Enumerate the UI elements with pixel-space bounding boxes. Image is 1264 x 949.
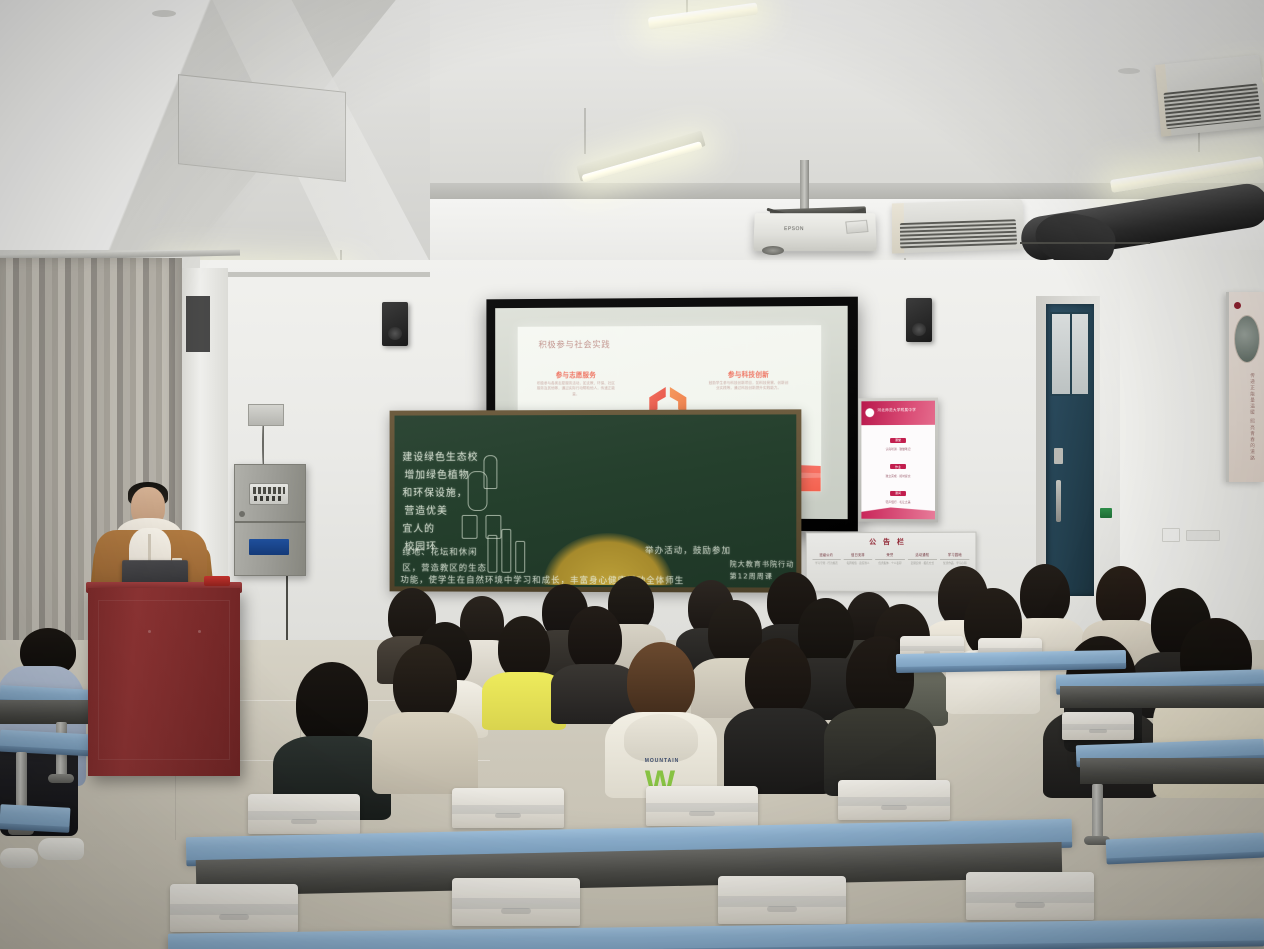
notice-column-text: 优秀集体 · 个人表彰: [876, 562, 905, 566]
poster-title: 河北师范大学附属中学: [877, 408, 916, 413]
student-head: [627, 642, 695, 722]
smoke-detector-icon: [1118, 68, 1140, 74]
seat-emblem: [501, 908, 532, 915]
podium-detail-dot: [198, 630, 201, 633]
seat-back: [170, 884, 298, 932]
smoke-detector-icon: [152, 10, 176, 17]
seat-emblem: [291, 819, 318, 825]
poster-row-text: 轻声慢行 · 礼让之美: [875, 500, 921, 504]
light-switch[interactable]: [1162, 528, 1180, 542]
seat-emblem: [495, 813, 522, 819]
notice-column-header: 班级公约: [812, 552, 840, 557]
poster-row: 课堂 认真听讲 · 勤做笔记: [875, 428, 921, 451]
seat-emblem: [689, 811, 716, 817]
speaker-cone-icon: [388, 327, 403, 340]
student-head: [393, 644, 457, 722]
power-junction-box: [248, 404, 284, 426]
air-conditioner-unit: [1155, 55, 1264, 137]
poster-row: 作业 独立完成 · 按时提交: [875, 455, 921, 478]
lecture-desk: [0, 804, 70, 828]
lecture-desk: [0, 730, 92, 752]
lecture-desk: [896, 650, 1126, 668]
podium-side-item: [204, 576, 230, 586]
chalk-drawing-building: [515, 541, 525, 573]
school-logo-icon: [865, 408, 874, 417]
slide-block-innovation: 参与科技创新 鼓励学生参与科技创新项目，如科技竞赛、创新创业实践等，通过科技创新…: [707, 368, 790, 391]
desk-leg: [1092, 784, 1103, 838]
ac-grill: [900, 219, 1017, 248]
meter-display: [253, 487, 285, 494]
student: [286, 662, 378, 812]
door-glass-panel: [1050, 312, 1090, 396]
notice-column: 活动通知 近期安排 · 报名方式: [908, 552, 937, 567]
slide-block-body: 鼓励学生参与科技创新项目，如科技竞赛、创新创业实践等，通过科技创新提升实践能力。: [707, 381, 790, 392]
ceiling-drop-section: [430, 0, 1264, 200]
projector-brand-label: EPSON: [784, 226, 804, 232]
seat-back: [966, 872, 1094, 920]
notice-divider: [844, 559, 873, 560]
notice-board-title: 公告栏: [807, 537, 976, 548]
student-torso: [724, 708, 832, 794]
notice-column-header: 学习园地: [940, 552, 970, 557]
student-hood: [624, 714, 698, 762]
seat-emblem: [767, 906, 798, 913]
notice-column-header: 值日安排: [844, 552, 873, 557]
desk-support: [1060, 686, 1264, 708]
notice-column: 班级公约 学习守则 · 行为规范: [812, 552, 840, 566]
poster-header: 河北师范大学附属中学: [861, 401, 935, 425]
poster-row: 课间 轻声慢行 · 礼让之美: [875, 481, 921, 504]
blackboard-note: 院大教育书院行动: [730, 559, 795, 569]
chalk-drawing-bin: [462, 515, 478, 539]
wall-outlet-plate: [1186, 530, 1220, 541]
slide-block-volunteer: 参与志愿服务 积极参与各类志愿服务活动，如支教、环保、社区服务及其他等，通过实际…: [535, 369, 616, 398]
ceiling-panel: [178, 74, 346, 182]
seat-back: [646, 786, 758, 826]
door-glass-mullion: [1070, 314, 1072, 394]
side-poster-text: 传递正能量温暖 照亮青春的道路: [1239, 373, 1255, 465]
notice-column: 值日安排 每周轮值 · 责任到人: [844, 552, 873, 566]
cabinet-warning-label: [249, 539, 289, 555]
chalk-drawing-figure: [468, 471, 488, 511]
pillar-recess: [186, 296, 210, 352]
school-logo-icon: [1234, 302, 1241, 309]
cabinet-latch-icon[interactable]: [239, 511, 245, 517]
seat-back: [838, 780, 950, 820]
door-lock-icon[interactable]: [1054, 448, 1063, 464]
wall-cable: [262, 420, 265, 468]
poster-footer-wave: [861, 503, 935, 519]
poster-row-text: 认真听讲 · 勤做笔记: [875, 447, 921, 451]
student: [384, 644, 466, 786]
chalk-drawing-building: [501, 529, 511, 573]
seat-emblem: [1015, 902, 1046, 909]
notice-divider: [908, 559, 937, 560]
notice-column-text: 学习守则 · 行为规范: [812, 562, 840, 566]
notice-divider: [940, 559, 970, 560]
blackboard-surface: 建设绿色生态校 增加绿色植物 和环保设施， 营造优美 宜人的 校园环 境，对合理…: [395, 414, 797, 587]
blackboard: 建设绿色生态校 增加绿色植物 和环保设施， 营造优美 宜人的 校园环 境，对合理…: [390, 409, 802, 592]
notice-column: 荣誉 优秀集体 · 个人表彰: [876, 552, 905, 567]
blackboard-line: 营造优美: [404, 505, 447, 519]
slide-block-body: 积极参与各类志愿服务活动，如支教、环保、社区服务及其他等，通过实际行动帮助他人，…: [535, 381, 616, 398]
slide-block-heading: 参与科技创新: [707, 368, 790, 378]
side-wall-poster: 传递正能量温暖 照亮青春的道路: [1226, 292, 1264, 482]
blackboard-line: 区，营造教区的生态: [402, 563, 487, 575]
wall-poster-frame: 河北师范大学附属中学 课堂 认真听讲 · 勤做笔记 作业 独立完成 · 按时提交…: [858, 398, 938, 523]
electrical-meter: [249, 483, 289, 505]
seat-back: [452, 878, 580, 926]
notice-column: 学习园地 优秀作品 · 学习心得: [940, 552, 970, 567]
blackboard-note: 举办活动，鼓励参加: [645, 545, 731, 558]
seat-emblem: [881, 805, 908, 811]
podium-panel: [98, 600, 230, 760]
student: [736, 638, 820, 784]
door-handle[interactable]: [1056, 480, 1061, 522]
meter-buttons[interactable]: [254, 496, 284, 501]
classroom-door[interactable]: [1046, 304, 1094, 596]
notice-divider: [812, 559, 840, 560]
blackboard-line: 绿地、花坛和休闲: [402, 547, 477, 559]
blackboard-line: 增加绿色植物: [404, 469, 469, 483]
wall-poster: 河北师范大学附属中学 课堂 认真听讲 · 勤做笔记 作业 独立完成 · 按时提交…: [861, 401, 935, 520]
classroom-scene: EPSON 积极参与社会实践 参与志愿服务 积极参与各类志愿服务活动，如支教、环…: [0, 0, 1264, 949]
chalk-drawing-building: [487, 535, 497, 573]
projector-lens: [762, 246, 784, 255]
seat-back: [452, 788, 564, 828]
poster-row-tag: 作业: [890, 464, 906, 469]
podium-detail-dot: [148, 630, 151, 633]
notice-divider: [876, 559, 905, 560]
seat-back: [718, 876, 846, 924]
cabinet-seam: [235, 521, 305, 523]
seat-back: [248, 794, 360, 834]
seat-back: [1062, 712, 1134, 740]
poster-row-tag: 课间: [890, 491, 906, 496]
projector-label-tag: [845, 220, 868, 234]
student-head: [568, 606, 622, 672]
slide-title: 积极参与社会实践: [538, 338, 610, 350]
notice-column-text: 每周轮值 · 责任到人: [844, 562, 873, 566]
desk-foot: [48, 774, 74, 783]
poster-photo: [1234, 315, 1260, 363]
blackboard-line: 宜人的: [402, 523, 435, 537]
desk-edge: [168, 940, 1264, 949]
slide-block-heading: 参与志愿服务: [535, 369, 616, 379]
notice-column-header: 荣誉: [876, 552, 905, 557]
student-head: [745, 638, 811, 718]
exit-sign-icon: [1100, 508, 1112, 518]
poster-row-text: 独立完成 · 按时提交: [875, 474, 921, 478]
blackboard-line: 和环保设施，: [402, 487, 467, 501]
student-head: [498, 616, 550, 680]
poster-row-tag: 课堂: [890, 438, 906, 443]
speaker-cone-icon: [912, 323, 927, 336]
student-head: [296, 662, 368, 746]
notice-board-grid: 班级公约 学习守则 · 行为规范 值日安排 每周轮值 · 责任到人 荣誉 优秀集…: [807, 552, 976, 567]
electrical-cabinet: [234, 464, 306, 576]
student-torso: [372, 712, 478, 794]
ac-grill: [1164, 83, 1261, 129]
notice-column-header: 活动通知: [908, 552, 937, 557]
student-shoe: [0, 848, 38, 868]
student-shoe: [38, 838, 84, 860]
air-conditioner-unit: [892, 199, 1026, 253]
light-hanger-rod: [584, 108, 586, 154]
seat-emblem: [1089, 729, 1106, 733]
podium: [88, 588, 240, 776]
seat-emblem: [219, 914, 250, 921]
student-head: [1096, 566, 1146, 628]
wall-speaker: [906, 298, 932, 342]
desk-support: [1080, 758, 1264, 784]
wall-speaker: [382, 302, 408, 346]
student: [490, 616, 558, 724]
blackboard-line: 建设绿色生态校: [402, 451, 478, 466]
